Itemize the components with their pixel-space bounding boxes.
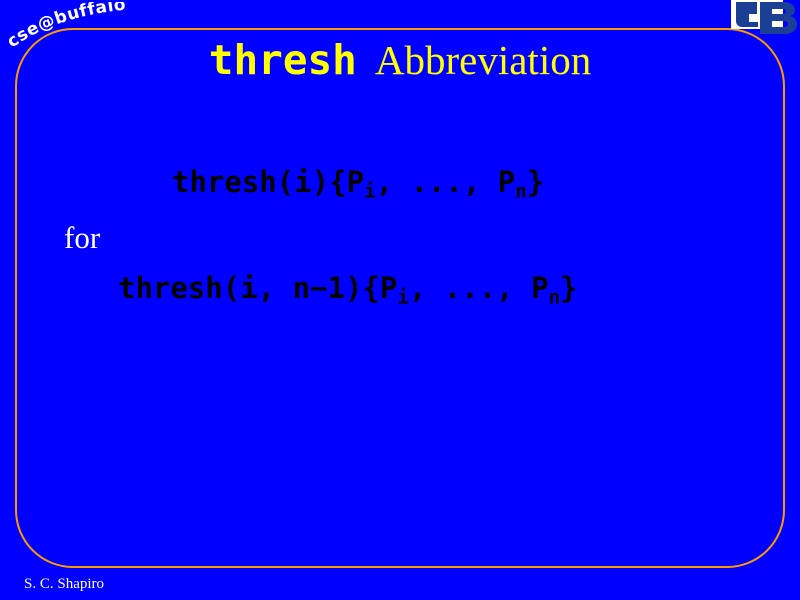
slide-canvas: cse@buffalo threshAbbreviation thresh(i)… (0, 0, 800, 600)
ub-logo (728, 0, 800, 36)
formula-line-2-sub-n: n (549, 286, 561, 309)
title-serif-part: Abbreviation (375, 37, 591, 83)
title-mono-part: thresh (209, 36, 357, 84)
formula-line-1-prefix: thresh(i){P (172, 165, 364, 199)
formula-line-1-middle: , ..., P (376, 165, 516, 199)
formula-line-2-sub-i: i (397, 286, 409, 309)
footer-author: S. C. Shapiro (24, 576, 104, 593)
formula-line-2-prefix: thresh(i, n−1){P (118, 271, 397, 305)
formula-connector-for: for (64, 222, 100, 253)
formula-line-1-sub-n: n (515, 180, 527, 203)
formula-line-1-suffix: } (527, 165, 544, 199)
formula-line-1-sub-i: i (364, 180, 376, 203)
formula-line-2: thresh(i, n−1){Pi, ..., Pn} (118, 274, 578, 303)
formula-line-2-suffix: } (560, 271, 577, 305)
formula-line-2-middle: , ..., P (409, 271, 549, 305)
slide-title: threshAbbreviation (0, 40, 800, 81)
formula-line-1: thresh(i){Pi, ..., Pn} (172, 168, 544, 197)
